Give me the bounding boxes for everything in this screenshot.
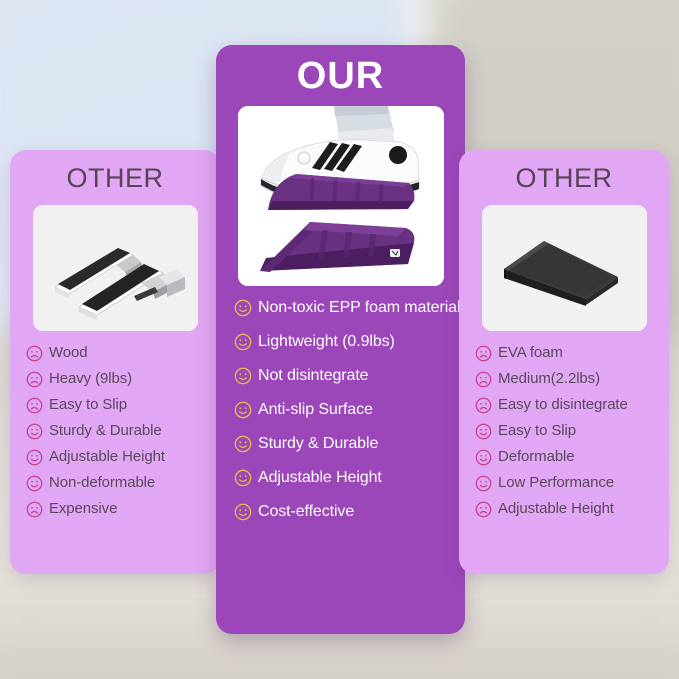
feature-label: Adjustable Height xyxy=(258,468,382,488)
feature-label: Easy to Slip xyxy=(49,395,127,414)
comparison-card-our: OUR xyxy=(216,45,465,634)
feature-list-other-left: Wood Heavy (9lbs) Easy to Slip Sturdy & … xyxy=(10,343,220,518)
sad-face-icon xyxy=(26,501,43,518)
feature-label: Medium(2.2lbs) xyxy=(498,369,600,388)
product-image-other-right xyxy=(482,205,647,331)
feature-label: Deformable xyxy=(498,447,575,466)
feature-item: Not disintegrate xyxy=(234,366,465,386)
happy-face-icon xyxy=(26,475,43,492)
feature-item: Expensive xyxy=(26,499,220,518)
sad-face-icon xyxy=(475,371,492,388)
feature-item: Cost-effective xyxy=(234,502,465,522)
card-title-other-right: OTHER xyxy=(459,163,669,194)
feature-item: Non-deformable xyxy=(26,473,220,492)
happy-face-icon xyxy=(234,469,252,487)
feature-label: Not disintegrate xyxy=(258,366,368,386)
feature-label: Sturdy & Durable xyxy=(49,421,162,440)
feature-label: EVA foam xyxy=(498,343,563,362)
feature-item: Adjustable Height xyxy=(475,499,669,518)
feature-item: Lightweight (0.9lbs) xyxy=(234,332,465,352)
feature-label: Cost-effective xyxy=(258,502,354,522)
comparison-card-other-left: OTHER xyxy=(10,150,220,574)
card-title-other-left: OTHER xyxy=(10,163,220,194)
feature-label: Easy to disintegrate xyxy=(498,395,628,414)
comparison-card-other-right: OTHER EVA foam Medium(2.2lbs) xyxy=(459,150,669,574)
feature-label: Adjustable Height xyxy=(498,499,614,518)
happy-face-icon xyxy=(26,449,43,466)
happy-face-icon xyxy=(234,503,252,521)
feature-label: Adjustable Height xyxy=(49,447,165,466)
feature-label: Wood xyxy=(49,343,88,362)
card-title-our: OUR xyxy=(216,55,465,98)
feature-item: Wood xyxy=(26,343,220,362)
feature-list-our: Non-toxic EPP foam material Lightweight … xyxy=(216,298,465,522)
feature-item: Non-toxic EPP foam material xyxy=(234,298,465,318)
feature-label: Easy to Slip xyxy=(498,421,576,440)
happy-face-icon xyxy=(234,435,252,453)
feature-item: Low Performance xyxy=(475,473,669,492)
happy-face-icon xyxy=(234,367,252,385)
happy-face-icon xyxy=(234,299,252,317)
feature-item: Adjustable Height xyxy=(234,468,465,488)
sad-face-icon xyxy=(475,397,492,414)
product-image-our xyxy=(238,106,444,286)
feature-item: EVA foam xyxy=(475,343,669,362)
sad-face-icon xyxy=(475,345,492,362)
feature-label: Heavy (9lbs) xyxy=(49,369,132,388)
sad-face-icon xyxy=(26,371,43,388)
comparison-stage: OTHER xyxy=(0,0,679,679)
feature-label: Non-toxic EPP foam material xyxy=(258,298,460,318)
feature-label: Anti-slip Surface xyxy=(258,400,373,420)
feature-label: Non-deformable xyxy=(49,473,155,492)
feature-item: Easy to disintegrate xyxy=(475,395,669,414)
feature-item: Anti-slip Surface xyxy=(234,400,465,420)
feature-list-other-right: EVA foam Medium(2.2lbs) Easy to disinteg… xyxy=(459,343,669,518)
feature-item: Heavy (9lbs) xyxy=(26,369,220,388)
happy-face-icon xyxy=(26,423,43,440)
feature-item: Easy to Slip xyxy=(26,395,220,414)
sad-face-icon xyxy=(26,345,43,362)
product-image-other-left xyxy=(33,205,198,331)
feature-label: Lightweight (0.9lbs) xyxy=(258,332,395,352)
happy-face-icon xyxy=(475,475,492,492)
sad-face-icon xyxy=(26,397,43,414)
happy-face-icon xyxy=(475,423,492,440)
sad-face-icon xyxy=(475,501,492,518)
feature-label: Sturdy & Durable xyxy=(258,434,378,454)
feature-item: Adjustable Height xyxy=(26,447,220,466)
feature-item: Medium(2.2lbs) xyxy=(475,369,669,388)
feature-item: Sturdy & Durable xyxy=(26,421,220,440)
feature-item: Deformable xyxy=(475,447,669,466)
happy-face-icon xyxy=(234,333,252,351)
happy-face-icon xyxy=(475,449,492,466)
happy-face-icon xyxy=(234,401,252,419)
feature-item: Sturdy & Durable xyxy=(234,434,465,454)
feature-label: Low Performance xyxy=(498,473,614,492)
feature-label: Expensive xyxy=(49,499,117,518)
feature-item: Easy to Slip xyxy=(475,421,669,440)
